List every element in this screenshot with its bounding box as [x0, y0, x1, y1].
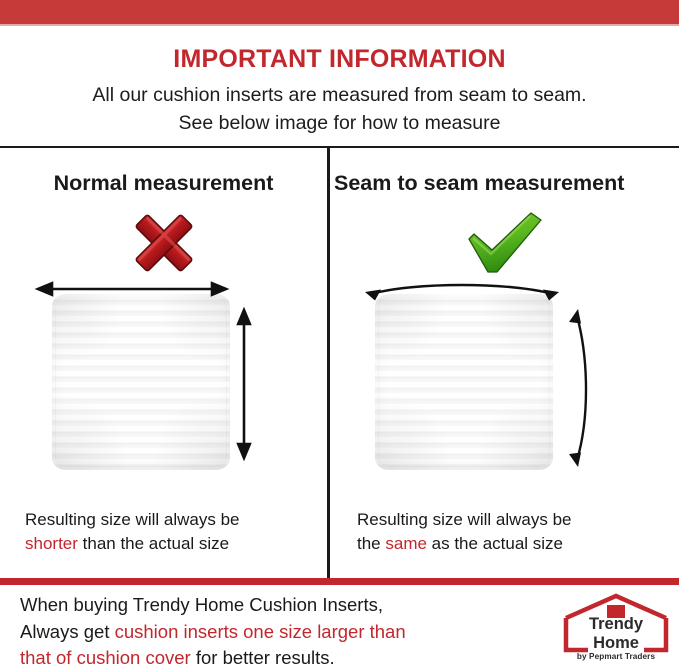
brand-logo: Trendy Home by Pepmart Traders	[560, 592, 672, 664]
pillow-illustration-normal	[0, 280, 327, 495]
green-check-mark	[329, 208, 679, 278]
logo-name-line-1: Trendy	[560, 615, 672, 634]
pillow-illustration-seam	[329, 280, 679, 495]
header-block: IMPORTANT INFORMATION All our cushion in…	[0, 30, 679, 136]
panel-heading-normal: Normal measurement	[0, 170, 327, 196]
caption-line-2-rest: than the actual size	[78, 534, 229, 553]
bottom-note-line-2: Always get cushion inserts one size larg…	[20, 619, 540, 646]
logo-name: Trendy Home	[560, 615, 672, 652]
caption-line-1: Resulting size will always be	[25, 508, 327, 532]
caption-highlight-shorter: shorter	[25, 534, 78, 553]
header-subtitle-line-2: See below image for how to measure	[0, 108, 679, 136]
red-cross-icon	[128, 211, 200, 275]
panel-heading-seam: Seam to seam measurement	[329, 170, 679, 196]
top-accent-bar-shadow	[0, 24, 679, 26]
caption-highlight-same: same	[385, 534, 427, 553]
bottom-note-line-3: that of cushion cover for better results…	[20, 645, 540, 672]
panel-caption-seam: Resulting size will always be the same a…	[329, 508, 679, 556]
bottom-note-line-2-red: cushion inserts one size larger than	[115, 621, 406, 642]
caption-line-1: Resulting size will always be	[357, 508, 679, 532]
logo-name-line-2: Home	[560, 634, 672, 653]
red-cross-mark	[0, 208, 327, 278]
caption-line-2: the same as the actual size	[357, 532, 679, 556]
bottom-note-line-1: When buying Trendy Home Cushion Inserts,	[20, 592, 540, 619]
bottom-note-line-2-black: Always get	[20, 621, 115, 642]
bottom-note-line-3-red: that of cushion cover	[20, 647, 191, 668]
bottom-accent-bar	[0, 578, 679, 585]
panel-normal-measurement: Normal measurement	[0, 148, 327, 578]
caption-line-2: shorter than the actual size	[25, 532, 327, 556]
bottom-note: When buying Trendy Home Cushion Inserts,…	[20, 592, 540, 672]
caption-line-2-prefix: the	[357, 534, 385, 553]
logo-tagline: by Pepmart Traders	[560, 652, 672, 661]
header-subtitle-line-1: All our cushion inserts are measured fro…	[0, 74, 679, 108]
top-accent-bar	[0, 0, 679, 24]
cushion-insert-image	[375, 294, 553, 470]
cushion-insert-image	[52, 294, 230, 470]
caption-line-2-rest: as the actual size	[427, 534, 563, 553]
bottom-note-line-3-black: for better results.	[191, 647, 335, 668]
page-title: IMPORTANT INFORMATION	[0, 30, 679, 74]
panel-seam-to-seam-measurement: Seam to seam measurement	[329, 148, 679, 578]
green-check-icon	[461, 209, 547, 277]
infographic-page: IMPORTANT INFORMATION All our cushion in…	[0, 0, 679, 669]
panel-caption-normal: Resulting size will always be shorter th…	[0, 508, 327, 556]
